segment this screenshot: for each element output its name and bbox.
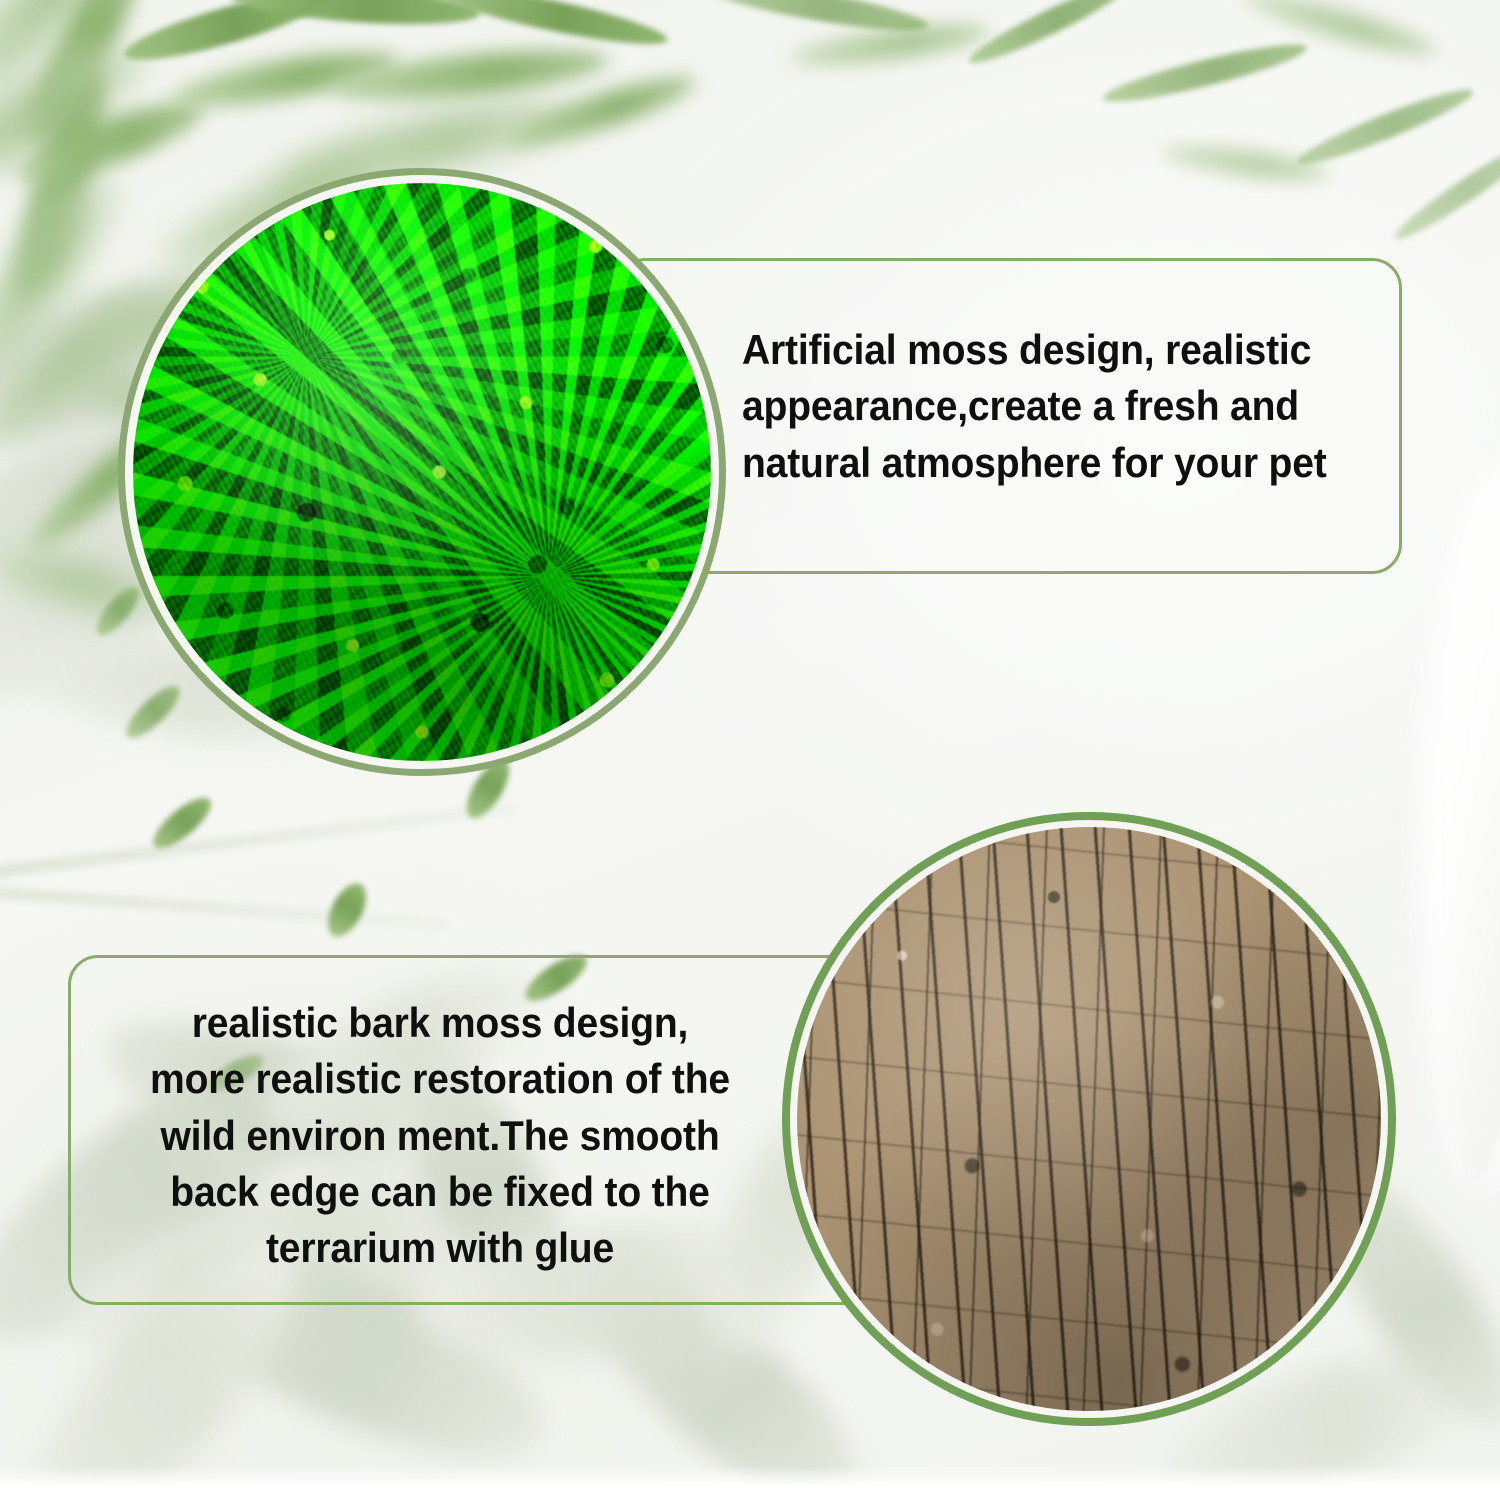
moss-shading [133,183,711,761]
bark-photo [797,827,1381,1411]
bark-callout-text: realistic bark moss design, more realist… [119,995,761,1276]
moss-callout-text: Artificial moss design, realistic appear… [742,322,1393,491]
product-feature-graphic: Artificial moss design, realistic appear… [0,0,1500,1500]
bottom-fade [0,1466,1500,1500]
bark-shading [797,827,1381,1411]
moss-photo [133,183,711,761]
